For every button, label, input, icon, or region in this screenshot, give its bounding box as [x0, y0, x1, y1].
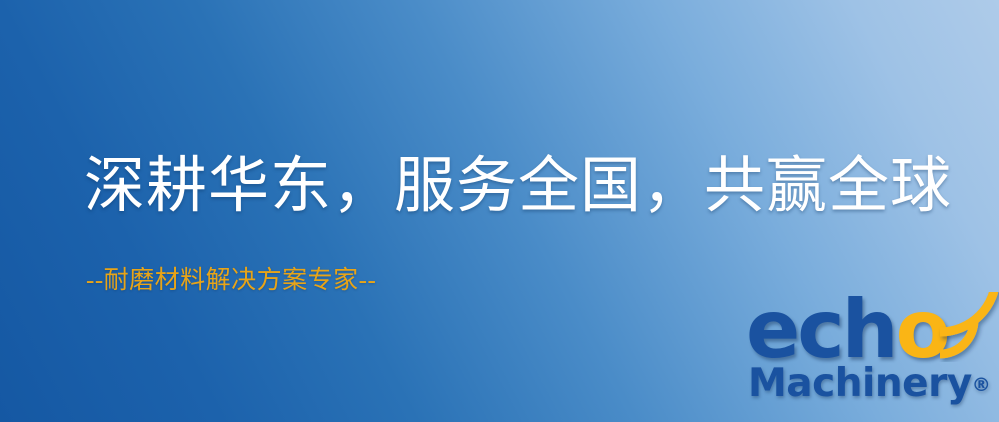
logo-machinery-label: Machinery	[748, 361, 972, 406]
registered-trademark-icon: ®	[972, 374, 991, 396]
logo-secondary-text: Machinery®	[748, 362, 991, 407]
banner-subtitle: --耐磨材料解决方案专家--	[86, 266, 376, 296]
signal-arcs-icon	[930, 292, 999, 362]
company-logo: echo Machinery®	[744, 296, 994, 420]
promo-banner: 深耕华东，服务全国，共赢全球 --耐磨材料解决方案专家-- echo Machi…	[0, 0, 999, 422]
logo-brand-text: echo	[746, 290, 948, 370]
banner-headline: 深耕华东，服务全国，共赢全球	[84, 150, 952, 224]
